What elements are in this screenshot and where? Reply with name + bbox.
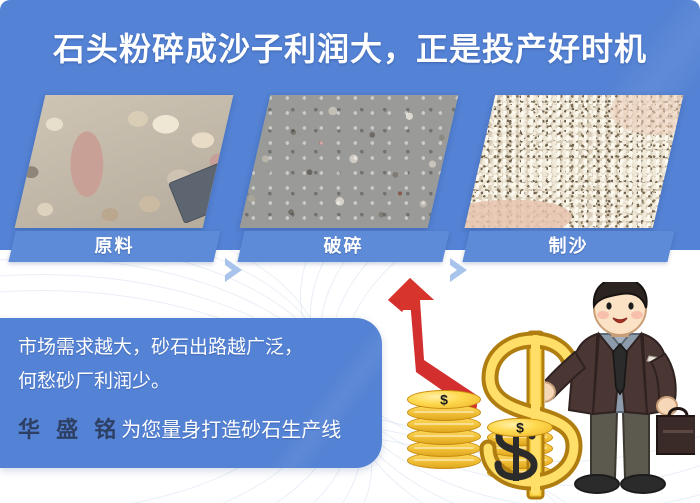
finished-sand-photo [465,95,684,228]
brand-tagline: 为您量身打造砂石生产线 [121,420,341,442]
process-step-crushing[interactable]: 破碎 [255,95,445,265]
coin-dollar-symbol: $ [488,420,552,434]
process-step-label: 制沙 [466,231,671,262]
process-step-label: 原料 [12,231,217,262]
process-step-raw-material[interactable]: 原料 [30,95,220,265]
businessman-icon [545,282,695,500]
gravel-icon [240,95,459,228]
process-step-label-tab: 破碎 [237,231,449,262]
page-title: 石头粉碎成沙子利润大，正是投产好时机 [0,24,700,70]
coin-dollar-symbol: $ [408,392,480,406]
process-step-label-tab: 制沙 [462,231,674,262]
necktie-icon [613,344,627,394]
process-step-label: 破碎 [241,231,446,262]
brand-line: 华 盛 铭为您量身打造砂石生产线 [18,412,341,444]
promo-banner: 石头粉碎成沙子利润大，正是投产好时机 原料 破碎 [0,0,700,503]
rocks-icon [15,95,234,228]
hand-shape [610,95,683,135]
shoe [575,475,619,493]
process-step-sand-making[interactable]: 制沙 [480,95,670,265]
chevron-right-icon [222,255,248,285]
hand-right [657,397,677,415]
gravel-texture [240,95,459,228]
eye [628,302,633,309]
copy-line-1: 市场需求越大，砂石出路越广泛， [18,332,303,359]
eye [606,302,611,309]
sand-icon [465,95,684,228]
copy-line-2: 何愁砂厂利润少。 [18,366,170,393]
hand-shape [465,200,572,228]
gold-coin-stack-icon: $ [407,390,481,472]
briefcase-icon [657,416,695,454]
stone-slab [168,160,233,224]
river-pebbles-photo [15,95,234,228]
shoe [621,475,665,493]
process-flow: 原料 破碎 制沙 [0,95,700,265]
process-step-label-tab: 原料 [8,231,220,262]
crushed-gravel-photo [240,95,459,228]
marketing-copy-panel: 市场需求越大，砂石出路越广泛， 何愁砂厂利润少。 华 盛 铭为您量身打造砂石生产… [0,318,382,468]
brand-name: 华 盛 铭 [18,417,121,442]
